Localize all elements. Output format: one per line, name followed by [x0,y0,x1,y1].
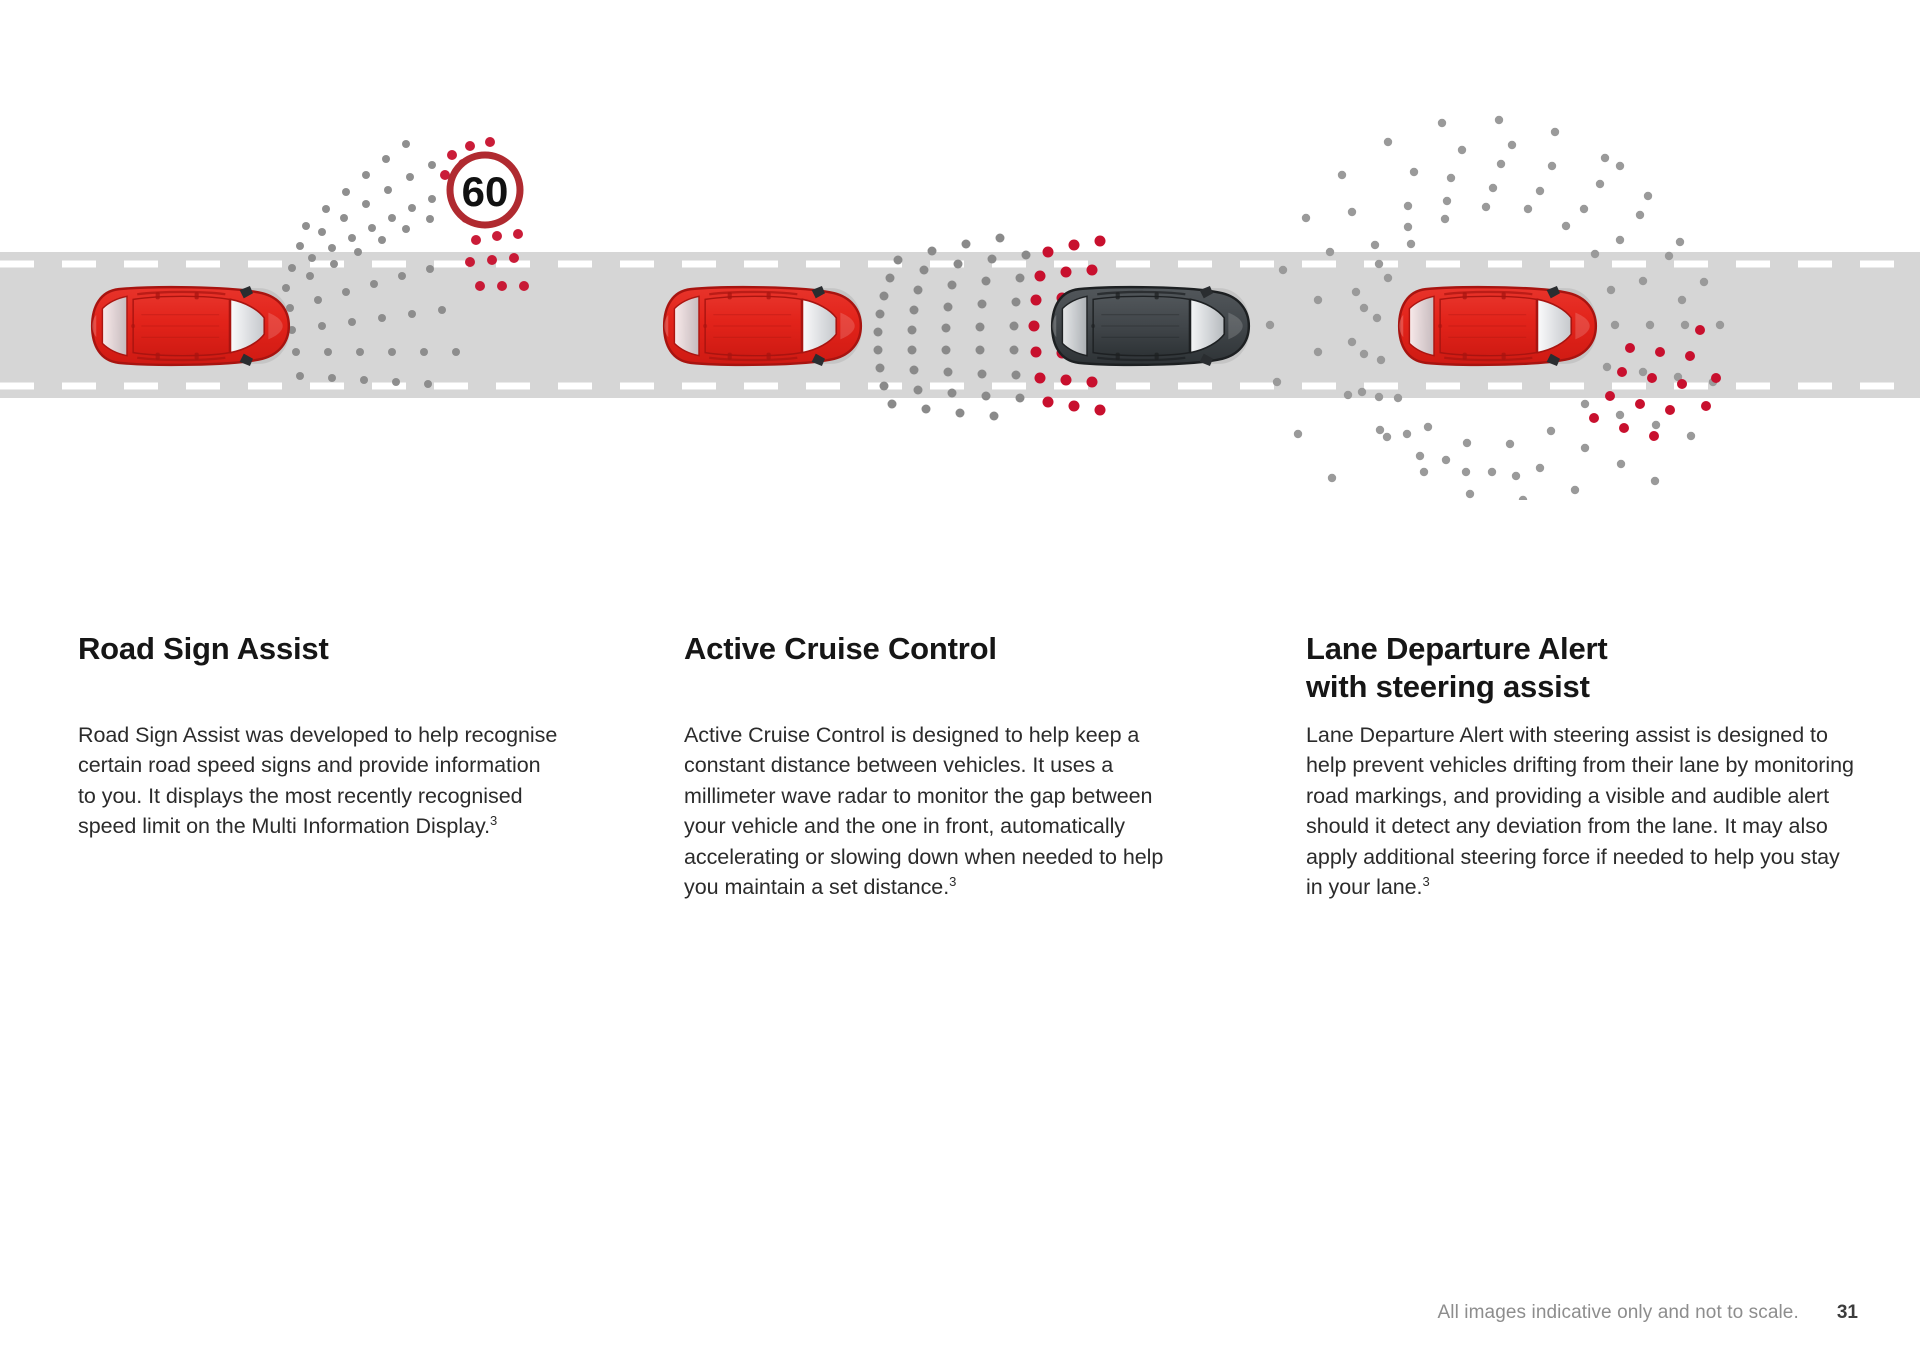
column-body-text: Lane Departure Alert with steering assis… [1306,723,1854,900]
vehicle-lead [1051,286,1250,366]
footnote-marker: 3 [490,813,497,828]
column-heading-lane-departure-alert: Lane Departure Alert with steering assis… [1306,630,1862,706]
feature-columns: Road Sign Assist Road Sign Assist was de… [0,630,1920,903]
vehicle-following [663,286,862,366]
feature-column-active-cruise-control: Active Cruise Control Active Cruise Cont… [620,630,1240,903]
footnote-marker: 3 [949,874,956,889]
column-body-active-cruise-control: Active Cruise Control is designed to hel… [684,720,1198,903]
feature-illustration: 60 [0,0,1920,500]
column-body-lane-departure-alert: Lane Departure Alert with steering assis… [1306,720,1862,903]
speed-limit-sign-icon: 60 [450,155,520,225]
feature-column-road-sign-assist: Road Sign Assist Road Sign Assist was de… [0,630,620,903]
feature-column-lane-departure-alert: Lane Departure Alert with steering assis… [1240,630,1920,903]
page-footer: All images indicative only and not to sc… [0,1302,1920,1324]
column-body-text: Road Sign Assist was developed to help r… [78,723,557,839]
column-heading-road-sign-assist: Road Sign Assist [78,630,560,668]
page-number: 31 [1837,1302,1858,1324]
column-body-text: Active Cruise Control is designed to hel… [684,723,1163,900]
column-body-road-sign-assist: Road Sign Assist was developed to help r… [78,720,560,842]
vehicle-lane-departure [1398,286,1597,366]
footnote-marker: 3 [1422,874,1429,889]
footer-disclaimer: All images indicative only and not to sc… [1437,1302,1798,1324]
vehicle-road-sign-assist [91,286,290,366]
speed-limit-value: 60 [462,168,509,215]
column-heading-active-cruise-control: Active Cruise Control [684,630,1198,668]
